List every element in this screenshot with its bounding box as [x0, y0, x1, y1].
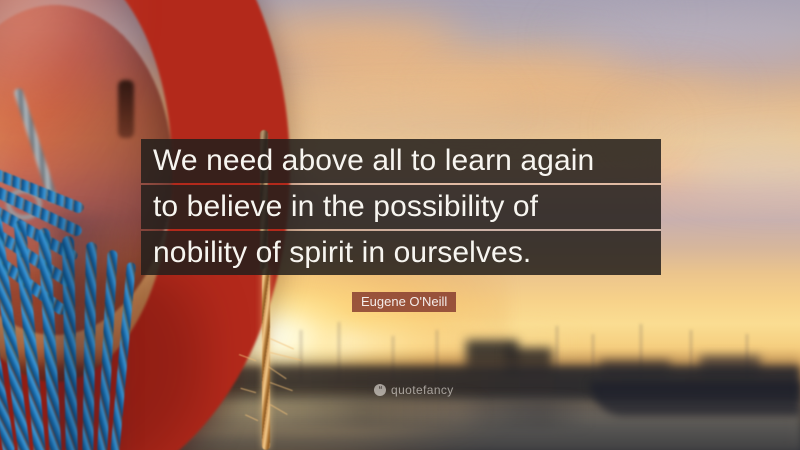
- cloud-band: [560, 20, 800, 64]
- quote-mark-icon: “: [374, 384, 386, 396]
- quote-line: nobility of spirit in ourselves.: [141, 231, 661, 275]
- watermark[interactable]: “ quotefancy: [374, 383, 454, 397]
- quote-poster: We need above all to learn again to beli…: [0, 0, 800, 450]
- cloud-band: [250, 112, 670, 140]
- quote-line: We need above all to learn again: [141, 139, 661, 183]
- blue-coiled-rope: [0, 176, 160, 450]
- author-attribution: Eugene O'Neill: [352, 292, 456, 312]
- cloud-band: [680, 150, 800, 190]
- watermark-brand: quotefancy: [391, 383, 454, 397]
- ring-hardware: [118, 80, 134, 138]
- quote-text-block: We need above all to learn again to beli…: [141, 139, 661, 275]
- quote-line: to believe in the possibility of: [141, 185, 661, 229]
